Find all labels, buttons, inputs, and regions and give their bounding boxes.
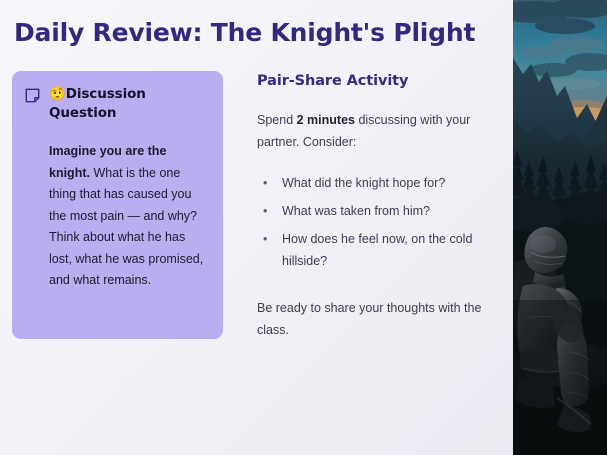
bullet-glyph: •: [263, 200, 267, 222]
activity-title: Pair-Share Activity: [257, 73, 491, 89]
thinking-face-icon: 🤨: [49, 86, 66, 102]
card-header: 🤨Discussion Question: [25, 85, 207, 123]
bullet-glyph: •: [263, 172, 267, 194]
activity-question-list: •What did the knight hope for? •What was…: [257, 172, 491, 273]
slide-content: Daily Review: The Knight's Plight 🤨Discu…: [0, 0, 513, 455]
activity-intro: Spend 2 minutes discussing with your par…: [257, 109, 491, 154]
discussion-body: Imagine you are the knight. What is the …: [49, 141, 207, 292]
activity-duration: 2 minutes: [297, 113, 355, 127]
page-title: Daily Review: The Knight's Plight: [12, 16, 491, 49]
list-item: •What did the knight hope for?: [257, 172, 491, 194]
discussion-question-card: 🤨Discussion Question Imagine you are the…: [12, 71, 223, 339]
list-item-label: How does he feel now, on the cold hillsi…: [282, 232, 472, 268]
kneeling-knight-at-dusk-illustration: [513, 0, 607, 455]
list-item-label: What did the knight hope for?: [282, 176, 445, 190]
discussion-body-rest: What is the one thing that has caused yo…: [49, 166, 203, 288]
list-item: •How does he feel now, on the cold hills…: [257, 228, 491, 273]
bullet-glyph: •: [263, 228, 267, 250]
sticky-note-icon: [25, 88, 40, 103]
two-column-layout: 🤨Discussion Question Imagine you are the…: [12, 71, 491, 341]
pair-share-section: Pair-Share Activity Spend 2 minutes disc…: [223, 71, 491, 341]
list-item: •What was taken from him?: [257, 200, 491, 222]
card-title-wrap: 🤨Discussion Question: [49, 85, 207, 123]
list-item-label: What was taken from him?: [282, 204, 430, 218]
activity-outro: Be ready to share your thoughts with the…: [257, 297, 491, 342]
slide-canvas: Daily Review: The Knight's Plight 🤨Discu…: [0, 0, 607, 455]
activity-intro-before: Spend: [257, 113, 297, 127]
